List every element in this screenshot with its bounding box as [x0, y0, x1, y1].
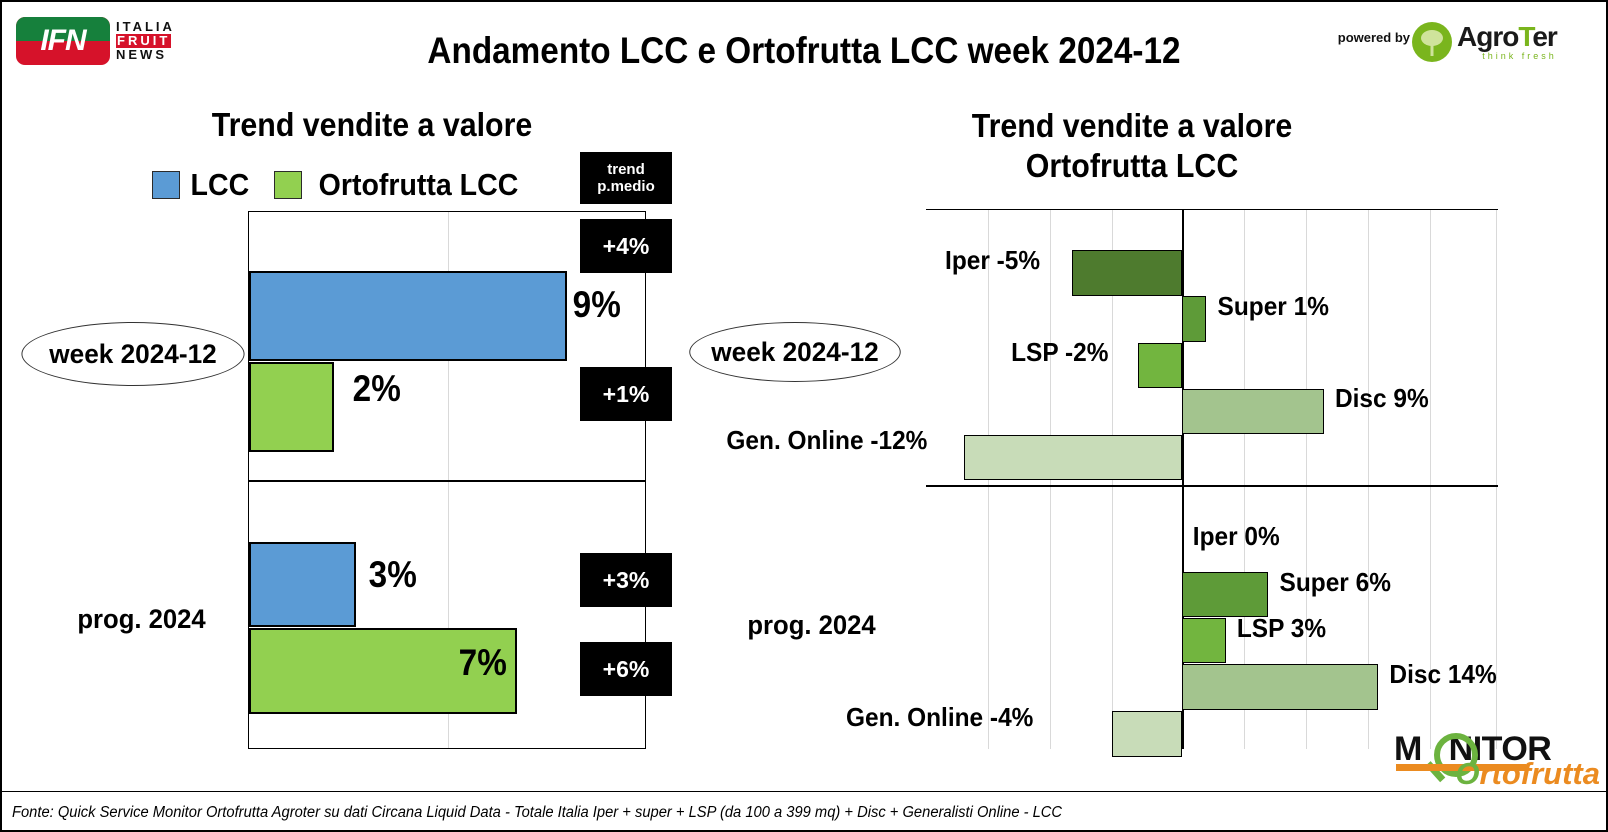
legend-swatch-ortofrutta-lcc: [274, 171, 302, 199]
left-group-label-prog: prog. 2024: [77, 604, 205, 635]
trend-pmedio-line1: trend: [607, 161, 645, 178]
right-bar-iper-week: [1072, 250, 1182, 296]
ortofrutta-letter-o: O: [1455, 756, 1479, 791]
right-label-gen-online-week: Gen. Online -12%: [726, 425, 927, 456]
legend-item-lcc: LCC: [152, 167, 252, 203]
left-bar-lcc-prog: [249, 542, 356, 627]
left-panel-title: Trend vendite a valore: [87, 106, 657, 144]
right-bar-lsp-prog: [1182, 618, 1226, 663]
right-group-label-week: week 2024-12: [689, 322, 900, 382]
right-label-iper-prog: Iper 0%: [1193, 521, 1280, 552]
left-bar-ortofrutta-week: [249, 362, 334, 452]
infographic-page: IFN ITALIA FRUIT NEWS powered by AgroTer…: [0, 0, 1608, 832]
badge-trend-ortofrutta-prog: +6%: [580, 642, 672, 696]
agroter-name-er: er: [1532, 21, 1556, 52]
right-bar-lsp-week: [1138, 343, 1182, 388]
right-bar-disc-prog: [1182, 664, 1378, 710]
left-chart-group-divider: [249, 480, 645, 482]
legend-label-lcc: LCC: [191, 167, 250, 203]
badge-trend-lcc-prog: +3%: [580, 553, 672, 607]
right-bar-super-prog: [1182, 572, 1268, 617]
monitor-letter-m: M: [1394, 730, 1422, 768]
right-chart-group-divider: [926, 485, 1498, 487]
footer-source-note: Fonte: Quick Service Monitor Ortofrutta …: [12, 804, 1062, 822]
left-value-ortofrutta-week: 2%: [353, 368, 401, 410]
right-label-lsp-week: LSP -2%: [1011, 337, 1108, 368]
right-label-disc-prog: Disc 14%: [1389, 659, 1496, 690]
right-bar-iper-prog: [1182, 526, 1184, 571]
left-chart-legend: LCC Ortofrutta LCC: [152, 167, 527, 203]
right-label-iper-week: Iper -5%: [945, 245, 1040, 276]
badge-trend-ortofrutta-week: +1%: [580, 367, 672, 421]
right-label-super-prog: Super 6%: [1280, 567, 1391, 598]
legend-swatch-lcc: [152, 171, 180, 199]
page-title: Andamento LCC e Ortofrutta LCC week 2024…: [82, 30, 1526, 72]
right-group-label-prog: prog. 2024: [747, 610, 875, 641]
legend-item-ortofrutta-lcc: Ortofrutta LCC: [274, 167, 527, 203]
left-bar-lcc-week: [249, 271, 567, 361]
trend-pmedio-line2: p.medio: [597, 178, 655, 195]
right-bar-super-week: [1182, 296, 1206, 342]
left-group-label-week: week 2024-12: [21, 322, 244, 386]
right-bar-disc-week: [1182, 389, 1324, 434]
left-value-ortofrutta-prog: 7%: [459, 642, 507, 684]
ortofrutta-wordmark: Ortofrutta: [1455, 756, 1600, 792]
ortofrutta-letters-rest: rtofrutta: [1479, 756, 1600, 791]
monitor-ortofrutta-logo: M NITOR Ortofrutta: [1382, 728, 1600, 790]
right-bar-gen-online-week: [964, 435, 1182, 480]
right-panel-title: Trend vendite a valore Ortofrutta LCC: [736, 106, 1527, 186]
left-value-lcc-week: 9%: [573, 284, 621, 326]
right-panel-title-line1: Trend vendite a valore: [736, 106, 1527, 146]
trend-pmedio-header: trend p.medio: [580, 152, 672, 204]
right-panel-title-line2: Ortofrutta LCC: [736, 146, 1527, 186]
right-label-super-week: Super 1%: [1218, 291, 1329, 322]
right-label-gen-online-prog: Gen. Online -4%: [846, 702, 1033, 733]
right-bar-gen-online-prog: [1112, 711, 1182, 757]
badge-trend-lcc-week: +4%: [580, 219, 672, 273]
legend-label-ortofrutta-lcc: Ortofrutta LCC: [318, 167, 518, 203]
right-label-disc-week: Disc 9%: [1335, 383, 1429, 414]
left-value-lcc-prog: 3%: [369, 554, 417, 596]
right-label-lsp-prog: LSP 3%: [1237, 613, 1326, 644]
footer-divider: [2, 791, 1606, 793]
right-chart-zero-axis-top: [1182, 210, 1184, 485]
